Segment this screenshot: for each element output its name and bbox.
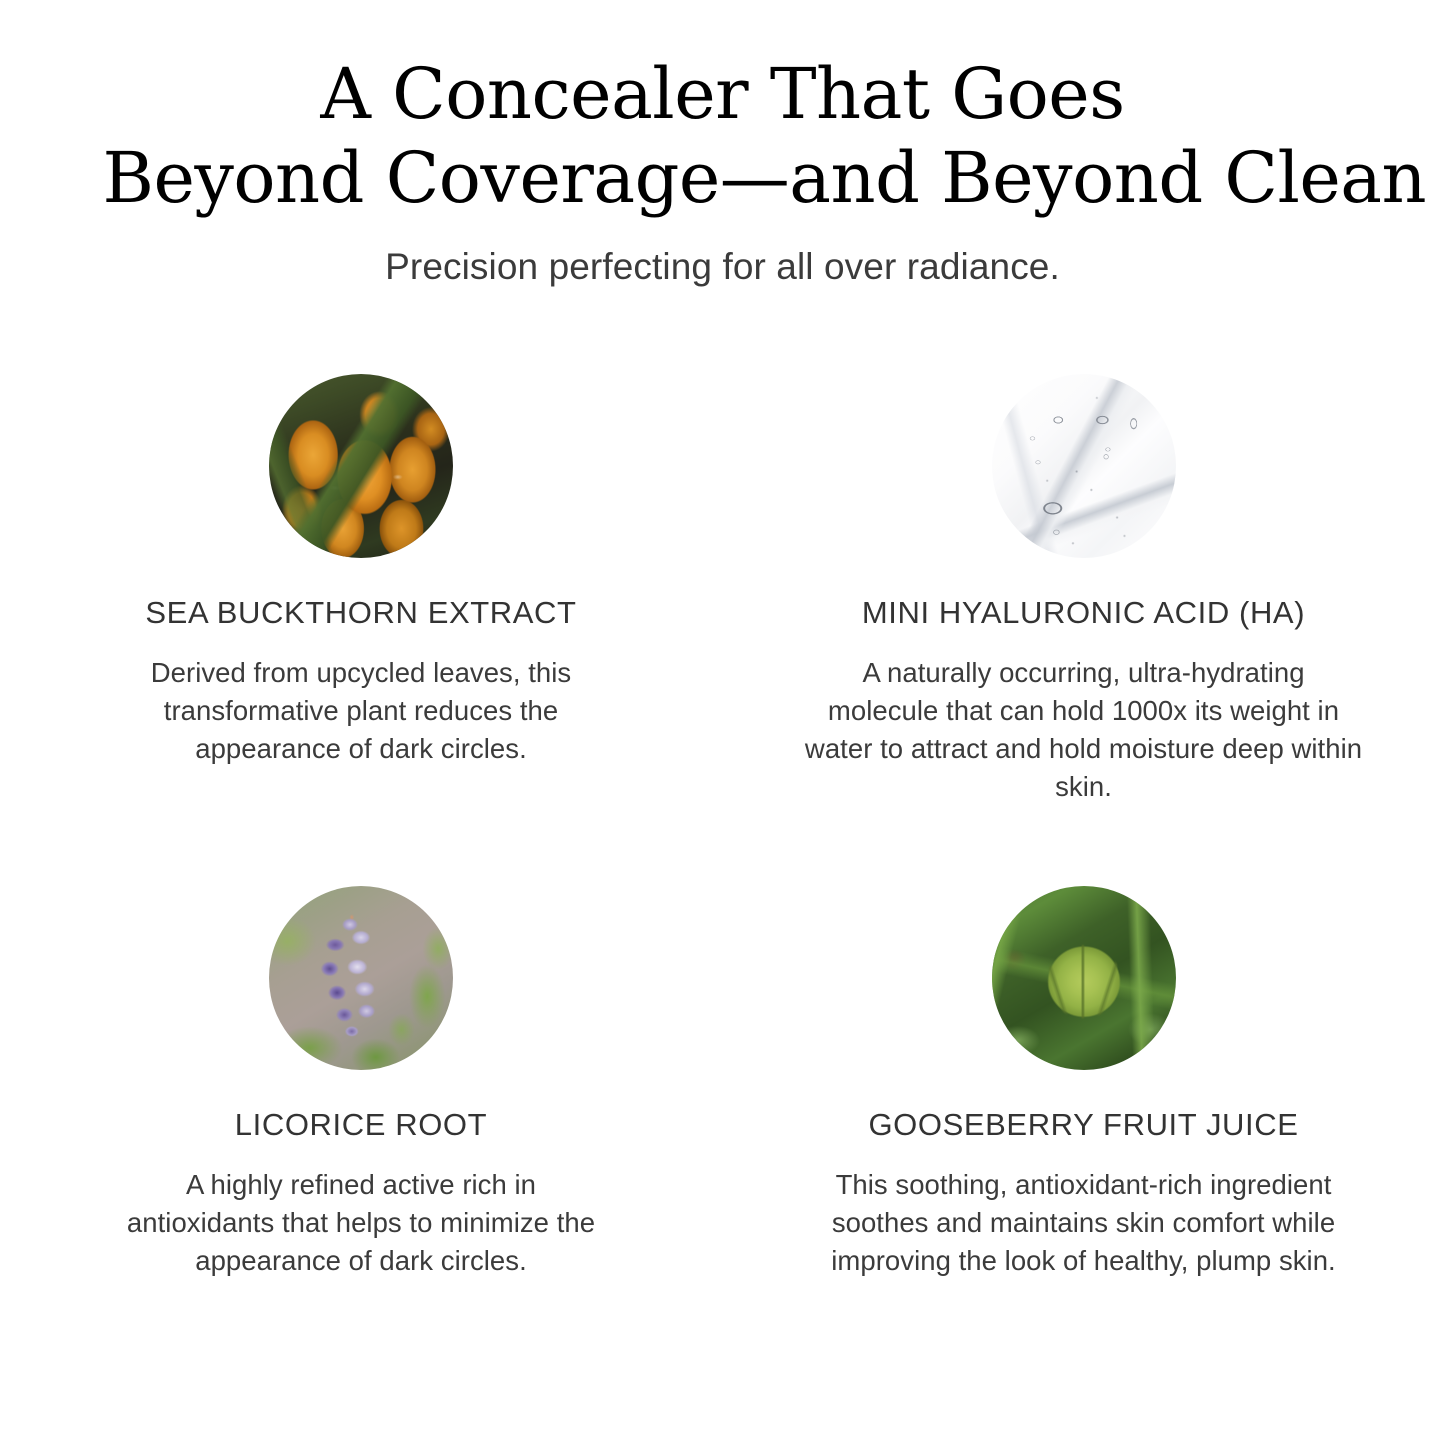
page-title-line-2: Beyond Coverage—and Beyond Clean [103,136,1343,220]
page-header: A Concealer That Goes Beyond Coverage—an… [0,0,1445,290]
ingredient-title: GOOSEBERRY FRUIT JUICE [868,1106,1298,1144]
ingredient-description: A naturally occurring, ultra-hydrating m… [804,654,1364,806]
gooseberry-fruit-image [992,886,1176,1070]
ingredient-card-hyaluronic-acid: MINI HYALURONIC ACID (HA) A naturally oc… [722,360,1445,872]
page-subtitle: Precision perfecting for all over radian… [0,244,1445,290]
hyaluronic-acid-gel-image [992,374,1176,558]
ingredient-description: Derived from upcycled leaves, this trans… [126,654,596,768]
ingredient-card-gooseberry: GOOSEBERRY FRUIT JUICE This soothing, an… [722,872,1445,1280]
page-title-line-1: A Concealer That Goes [103,52,1343,136]
ingredient-title: MINI HYALURONIC ACID (HA) [862,594,1305,632]
ingredient-title: SEA BUCKTHORN EXTRACT [145,594,576,632]
ingredient-description: This soothing, antioxidant-rich ingredie… [804,1166,1364,1280]
ingredients-grid: SEA BUCKTHORN EXTRACT Derived from upcyc… [0,360,1445,1280]
page-title: A Concealer That Goes Beyond Coverage—an… [103,52,1343,220]
ingredient-card-sea-buckthorn: SEA BUCKTHORN EXTRACT Derived from upcyc… [0,360,722,872]
licorice-root-flower-image [269,886,453,1070]
ingredient-title: LICORICE ROOT [235,1106,487,1144]
ingredient-description: A highly refined active rich in antioxid… [126,1166,596,1280]
product-ingredients-page: A Concealer That Goes Beyond Coverage—an… [0,0,1445,1445]
sea-buckthorn-berries-image [269,374,453,558]
ingredient-card-licorice-root: LICORICE ROOT A highly refined active ri… [0,872,722,1280]
